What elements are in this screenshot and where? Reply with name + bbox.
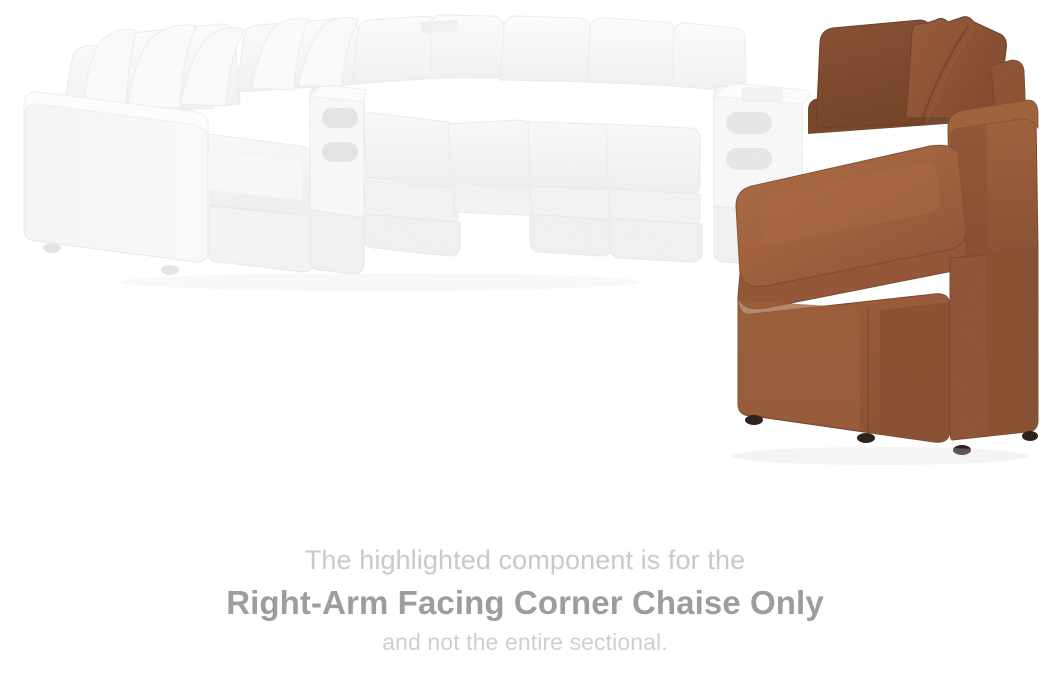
highlighted-raf-corner-chaise: [736, 17, 1038, 455]
screenshot-root: The highlighted component is for the Rig…: [0, 0, 1050, 700]
ghost-sectional-group: [24, 15, 809, 275]
cup-holder-recess: [322, 108, 358, 128]
caption-component-name: Right-Arm Facing Corner Chaise Only: [0, 580, 1050, 625]
ghost-module-console-left: [310, 84, 366, 274]
caption-line-3: and not the entire sectional.: [0, 625, 1050, 659]
ghost-module-armless-right: [500, 16, 746, 262]
sofa-leg: [745, 415, 763, 425]
cup-holder-recess: [726, 148, 772, 170]
sectional-sofa-illustration: [0, 0, 1050, 520]
sofa-leg: [1022, 431, 1038, 441]
caption-line-1: The highlighted component is for the: [0, 540, 1050, 580]
caption-block: The highlighted component is for the Rig…: [0, 540, 1050, 659]
cup-holder-recess: [726, 112, 772, 134]
cup-holder-recess: [322, 142, 358, 162]
sofa-leg: [857, 433, 875, 443]
